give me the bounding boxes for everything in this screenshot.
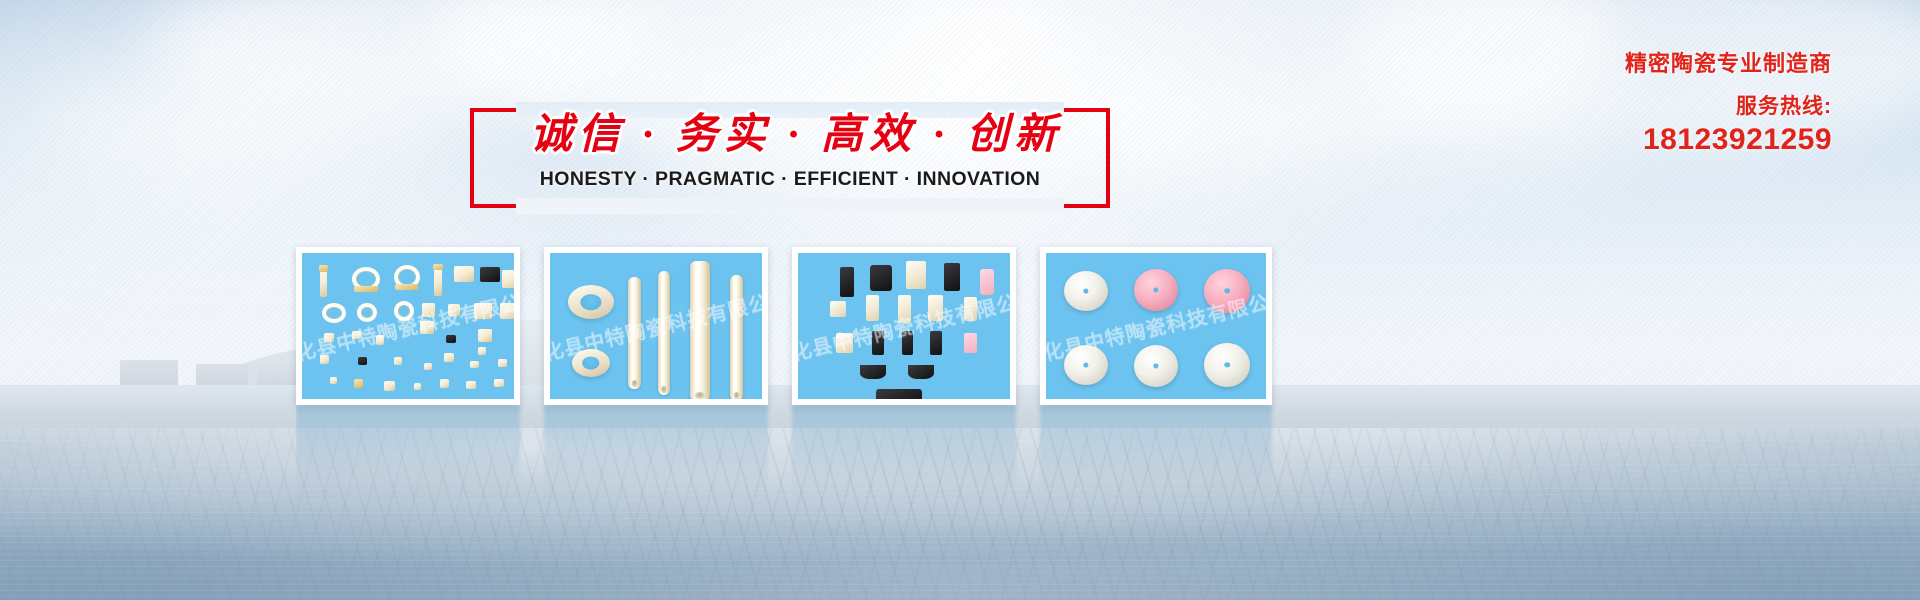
panel-reflection xyxy=(544,405,768,500)
ceramic-block xyxy=(928,295,943,321)
ceramic-part xyxy=(478,329,492,342)
ceramic-part xyxy=(395,284,418,290)
ceramic-part xyxy=(444,353,454,362)
ceramic-part xyxy=(448,304,460,316)
ceramic-tube xyxy=(658,271,670,395)
ceramic-block xyxy=(930,331,942,355)
ceramic-part xyxy=(354,379,363,388)
ceramic-part xyxy=(466,381,476,389)
product-panel-4[interactable]: 新化县中特陶瓷科技有限公司 xyxy=(1040,247,1272,405)
ceramic-part xyxy=(424,363,432,370)
ceramic-tube xyxy=(730,275,743,399)
panel-reflection xyxy=(296,405,520,500)
ceramic-disc xyxy=(1204,269,1250,313)
ceramic-part xyxy=(358,357,367,365)
contact-block: 精密陶瓷专业制造商 服务热线: 18123921259 xyxy=(1625,50,1832,157)
ceramic-part xyxy=(494,379,504,387)
ceramic-part xyxy=(470,361,479,368)
ceramic-block xyxy=(870,265,892,291)
ceramic-block xyxy=(898,295,911,323)
hero-banner: 诚信 · 务实 · 高效 · 创新 HONESTY · PRAGMATIC · … xyxy=(0,0,1920,600)
ceramic-part xyxy=(320,355,329,364)
ceramic-arc xyxy=(860,365,886,379)
ceramic-block xyxy=(872,331,884,355)
hotline-label: 服务热线: xyxy=(1625,94,1832,119)
product-panel-1-image: 新化县中特陶瓷科技有限公司 xyxy=(302,253,514,399)
bracket-gap-bottom xyxy=(516,198,1064,214)
ceramic-ring xyxy=(357,303,377,322)
ceramic-ring-large xyxy=(568,285,614,319)
ceramic-block xyxy=(836,333,853,353)
ceramic-block xyxy=(944,263,960,291)
product-panel-3-image: 新化县中特陶瓷科技有限公司 xyxy=(798,253,1010,399)
ceramic-part xyxy=(324,333,334,342)
ceramic-block xyxy=(830,301,846,317)
slogan-block: 诚信 · 务实 · 高效 · 创新 HONESTY · PRAGMATIC · … xyxy=(470,108,1110,208)
ceramic-part xyxy=(354,286,378,292)
ceramic-disc xyxy=(1064,271,1108,311)
product-panel-3[interactable]: 新化县中特陶瓷科技有限公司 xyxy=(792,247,1016,405)
ceramic-part xyxy=(478,347,486,355)
product-panel-4-image: 新化县中特陶瓷科技有限公司 xyxy=(1046,253,1266,399)
ceramic-block xyxy=(906,261,926,289)
ceramic-part xyxy=(319,265,328,272)
company-tagline: 精密陶瓷专业制造商 xyxy=(1625,50,1832,78)
ceramic-tube xyxy=(628,277,641,389)
ceramic-disc xyxy=(1134,269,1178,311)
ceramic-part xyxy=(376,335,384,345)
ceramic-block xyxy=(840,267,854,297)
ceramic-part xyxy=(414,383,421,390)
product-panel-2-image: 新化县中特陶瓷科技有限公司 xyxy=(550,253,762,399)
ceramic-part xyxy=(420,321,434,334)
ceramic-part xyxy=(474,303,492,319)
product-panel-1[interactable]: 新化县中特陶瓷科技有限公司 xyxy=(296,247,520,405)
ceramic-part xyxy=(502,270,514,288)
ceramic-part xyxy=(454,266,474,282)
ceramic-part xyxy=(394,357,402,365)
ceramic-part xyxy=(433,264,443,270)
ceramic-part xyxy=(330,377,337,384)
ceramic-disc xyxy=(1134,345,1178,387)
panel-reflections xyxy=(296,405,1526,500)
ceramic-part xyxy=(434,266,442,296)
ceramic-tube xyxy=(690,261,710,399)
ceramic-part xyxy=(498,359,507,367)
ceramic-block xyxy=(876,389,922,399)
ceramic-disc xyxy=(1064,345,1108,385)
ceramic-block xyxy=(902,331,913,355)
ceramic-part xyxy=(384,381,395,391)
ceramic-part xyxy=(500,303,514,319)
ceramic-ring-large xyxy=(572,349,610,377)
ceramic-block xyxy=(980,269,994,295)
ceramic-part xyxy=(352,331,361,339)
ceramic-part xyxy=(440,379,449,388)
ceramic-disc xyxy=(1204,343,1250,387)
ceramic-ring xyxy=(394,301,414,321)
product-panel-row: 新化县中特陶瓷科技有限公司 新化县中特陶瓷科技有限公司 xyxy=(296,247,1526,405)
panel-reflection xyxy=(1040,405,1272,500)
ceramic-part xyxy=(446,335,456,343)
ceramic-block xyxy=(964,333,977,353)
hotline-number[interactable]: 18123921259 xyxy=(1625,123,1832,158)
ceramic-block xyxy=(964,297,977,321)
slogan-english: HONESTY · PRAGMATIC · EFFICIENT · INNOVA… xyxy=(470,168,1110,191)
ceramic-part xyxy=(480,267,500,282)
ceramic-ring xyxy=(322,303,346,323)
panel-reflection xyxy=(792,405,1016,500)
slogan-chinese: 诚信 · 务实 · 高效 · 创新 xyxy=(530,100,1050,161)
ceramic-block xyxy=(866,295,879,321)
ceramic-part xyxy=(422,303,435,317)
ceramic-arc xyxy=(908,365,934,379)
panel-watermark: 新化县中特陶瓷科技有限公司 xyxy=(302,281,514,371)
product-panel-2[interactable]: 新化县中特陶瓷科技有限公司 xyxy=(544,247,768,405)
